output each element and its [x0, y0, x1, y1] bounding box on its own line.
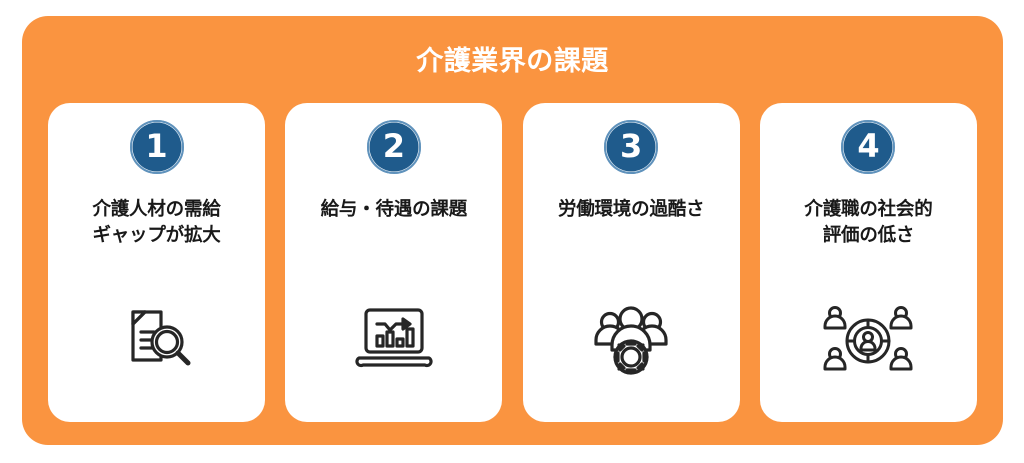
- laptop-bar-chart-icon: [285, 300, 502, 380]
- page-title: 介護業界の課題: [22, 48, 1003, 75]
- challenge-card-label-line1: 給与・待遇の課題: [299, 196, 489, 222]
- challenges-panel: 介護業界の課題 1 介護人材の需給 ギャップが拡大: [22, 16, 1003, 445]
- challenge-card-2[interactable]: 2 給与・待遇の課題: [285, 103, 502, 422]
- badge-label: 3: [620, 130, 642, 162]
- challenge-card-4[interactable]: 4 介護職の社会的 評価の低さ: [760, 103, 977, 422]
- challenge-card-3[interactable]: 3 労働環境の過酷さ: [523, 103, 740, 422]
- challenge-card-label-line1: 労働環境の過酷さ: [536, 196, 726, 222]
- challenge-card-label: 給与・待遇の課題: [299, 196, 489, 222]
- document-search-icon: [48, 294, 265, 380]
- challenge-card-label-line2: ギャップが拡大: [62, 222, 252, 248]
- challenge-card-label: 労働環境の過酷さ: [536, 196, 726, 222]
- badge-number-3: 3: [604, 120, 658, 174]
- challenge-card-label: 介護職の社会的 評価の低さ: [773, 196, 963, 249]
- badge-label: 1: [145, 130, 167, 162]
- challenge-card-label-line2: 評価の低さ: [773, 222, 963, 248]
- badge-label: 4: [857, 130, 879, 162]
- badge-number-2: 2: [367, 120, 421, 174]
- badge-number-4: 4: [841, 120, 895, 174]
- team-gear-icon: [523, 302, 740, 380]
- challenge-card-label: 介護人材の需給 ギャップが拡大: [62, 196, 252, 249]
- challenge-card-1[interactable]: 1 介護人材の需給 ギャップが拡大: [48, 103, 265, 422]
- badge-number-1: 1: [130, 120, 184, 174]
- challenge-card-label-line1: 介護職の社会的: [773, 196, 963, 222]
- target-people-icon: [760, 302, 977, 380]
- challenge-card-label-line1: 介護人材の需給: [62, 196, 252, 222]
- card-row: 1 介護人材の需給 ギャップが拡大: [48, 103, 977, 422]
- badge-label: 2: [383, 130, 405, 162]
